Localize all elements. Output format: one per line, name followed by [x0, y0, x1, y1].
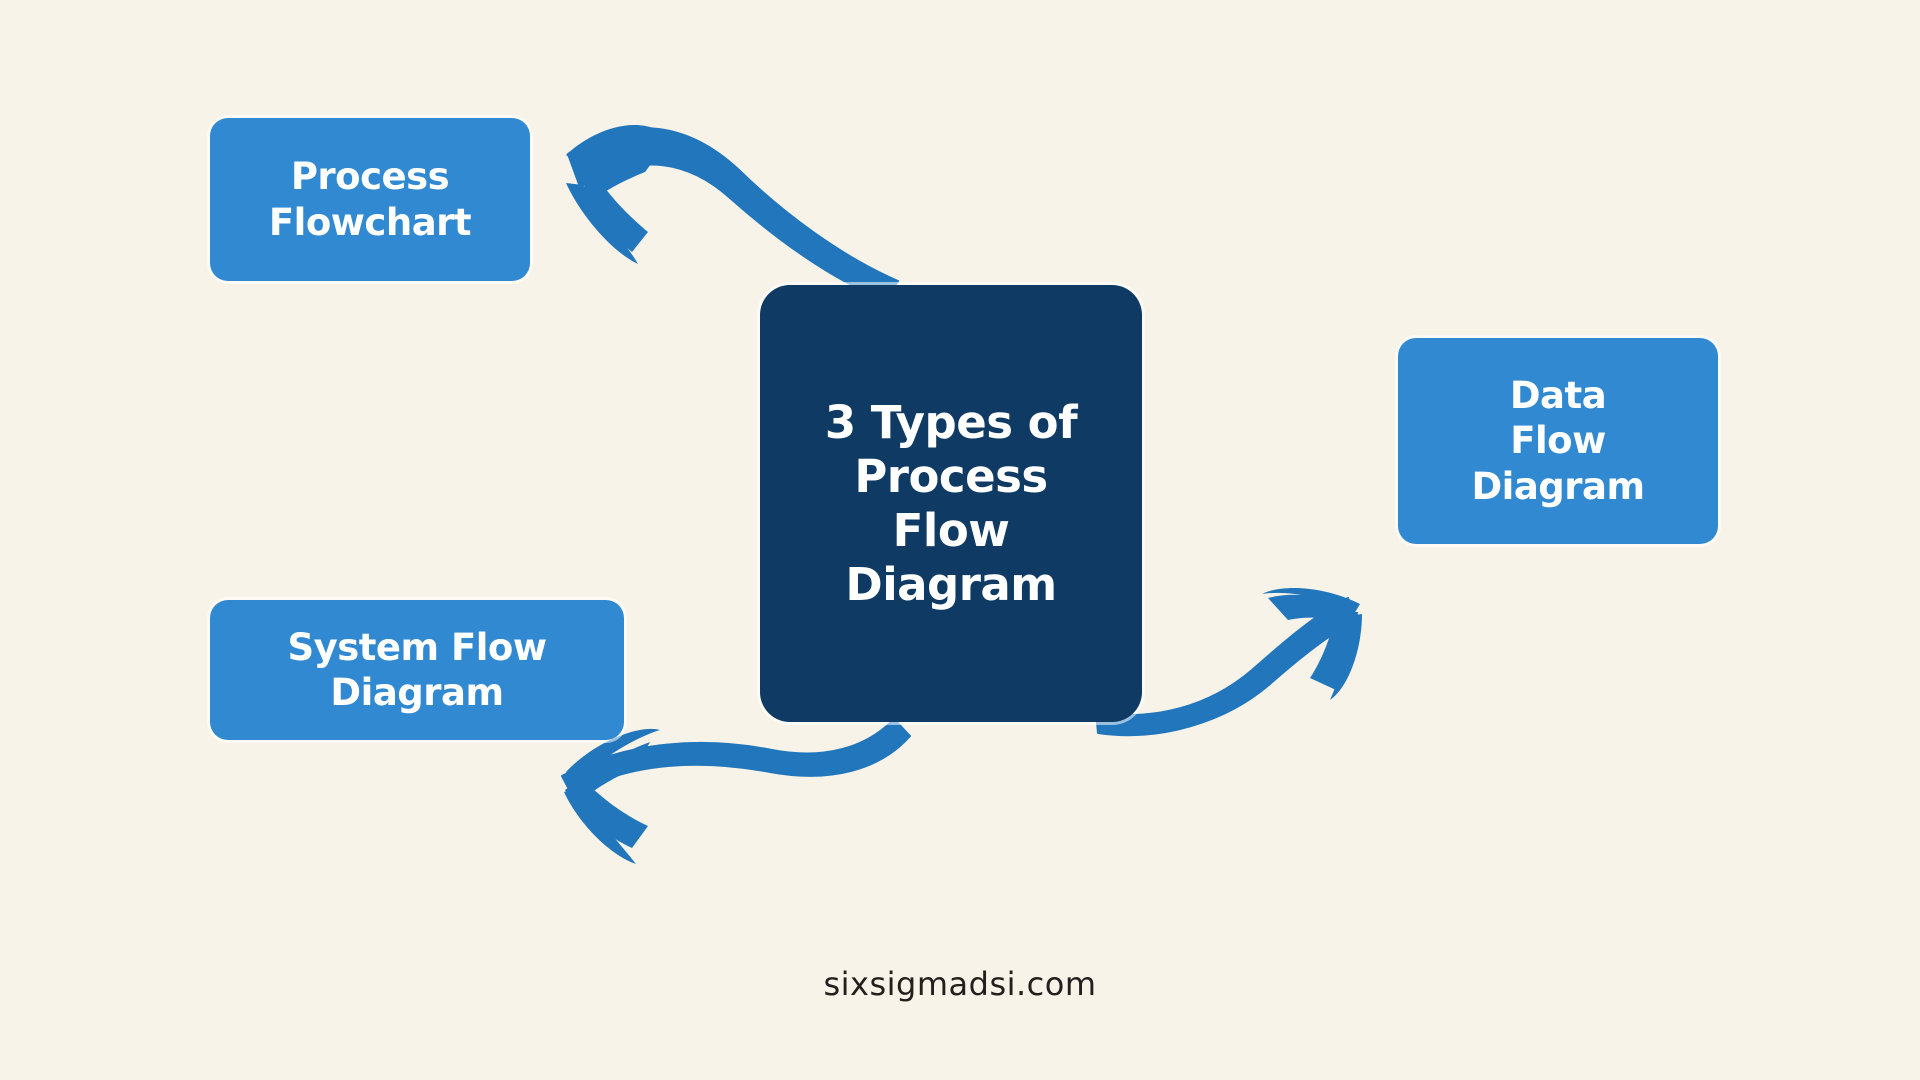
branch-node-data-flow-diagram[interactable]: Data Flow Diagram — [1398, 338, 1718, 544]
branch-node-process-flowchart[interactable]: Process Flowchart — [210, 118, 530, 281]
footer-site-credit: sixsigmadsi.com — [0, 965, 1920, 1003]
branch-node-system-flow-diagram[interactable]: System Flow Diagram — [210, 600, 624, 740]
arrow-to-system-flow-diagram — [562, 719, 910, 864]
branch-node-process-flowchart-label: Process Flowchart — [269, 154, 471, 244]
branch-node-data-flow-diagram-label: Data Flow Diagram — [1471, 373, 1644, 508]
center-node-process-flow-diagram[interactable]: 3 Types of Process Flow Diagram — [760, 285, 1142, 722]
center-node-label: 3 Types of Process Flow Diagram — [825, 396, 1077, 612]
arrow-to-process-flowchart — [566, 125, 898, 300]
diagram-canvas: 3 Types of Process Flow Diagram Process … — [0, 0, 1920, 1080]
branch-node-system-flow-diagram-label: System Flow Diagram — [287, 625, 546, 715]
